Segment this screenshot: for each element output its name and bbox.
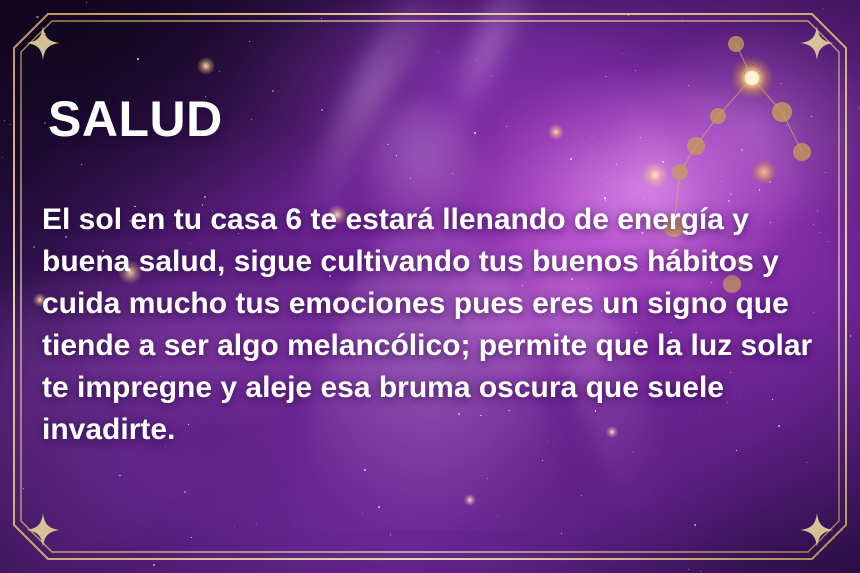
page-title: SALUD	[48, 94, 223, 144]
frame-outer-line	[14, 14, 846, 559]
constellation-lines	[674, 44, 802, 226]
vignette-overlay	[0, 0, 860, 573]
nebula-core-glow	[0, 0, 860, 573]
nebula-background	[0, 0, 860, 573]
sparkle-icon-top-right	[800, 26, 834, 60]
ornamental-gold-frame	[0, 0, 860, 573]
nebula-dust-clouds	[0, 0, 860, 573]
figure-silhouette	[150, 0, 770, 530]
constellation-nodes	[663, 36, 811, 293]
sparkle-icon-bottom-left	[26, 513, 60, 547]
starfield	[0, 0, 860, 573]
body-paragraph: El sol en tu casa 6 te estará llenando d…	[42, 199, 832, 451]
sparkle-icon-top-left	[26, 26, 60, 60]
frame-inner-line	[21, 21, 839, 552]
horoscope-card: SALUD El sol en tu casa 6 te estará llen…	[0, 0, 860, 573]
star-constellation	[640, 0, 860, 300]
card-content: SALUD El sol en tu casa 6 te estará llen…	[0, 0, 860, 573]
sparkle-icon-bottom-right	[800, 513, 834, 547]
